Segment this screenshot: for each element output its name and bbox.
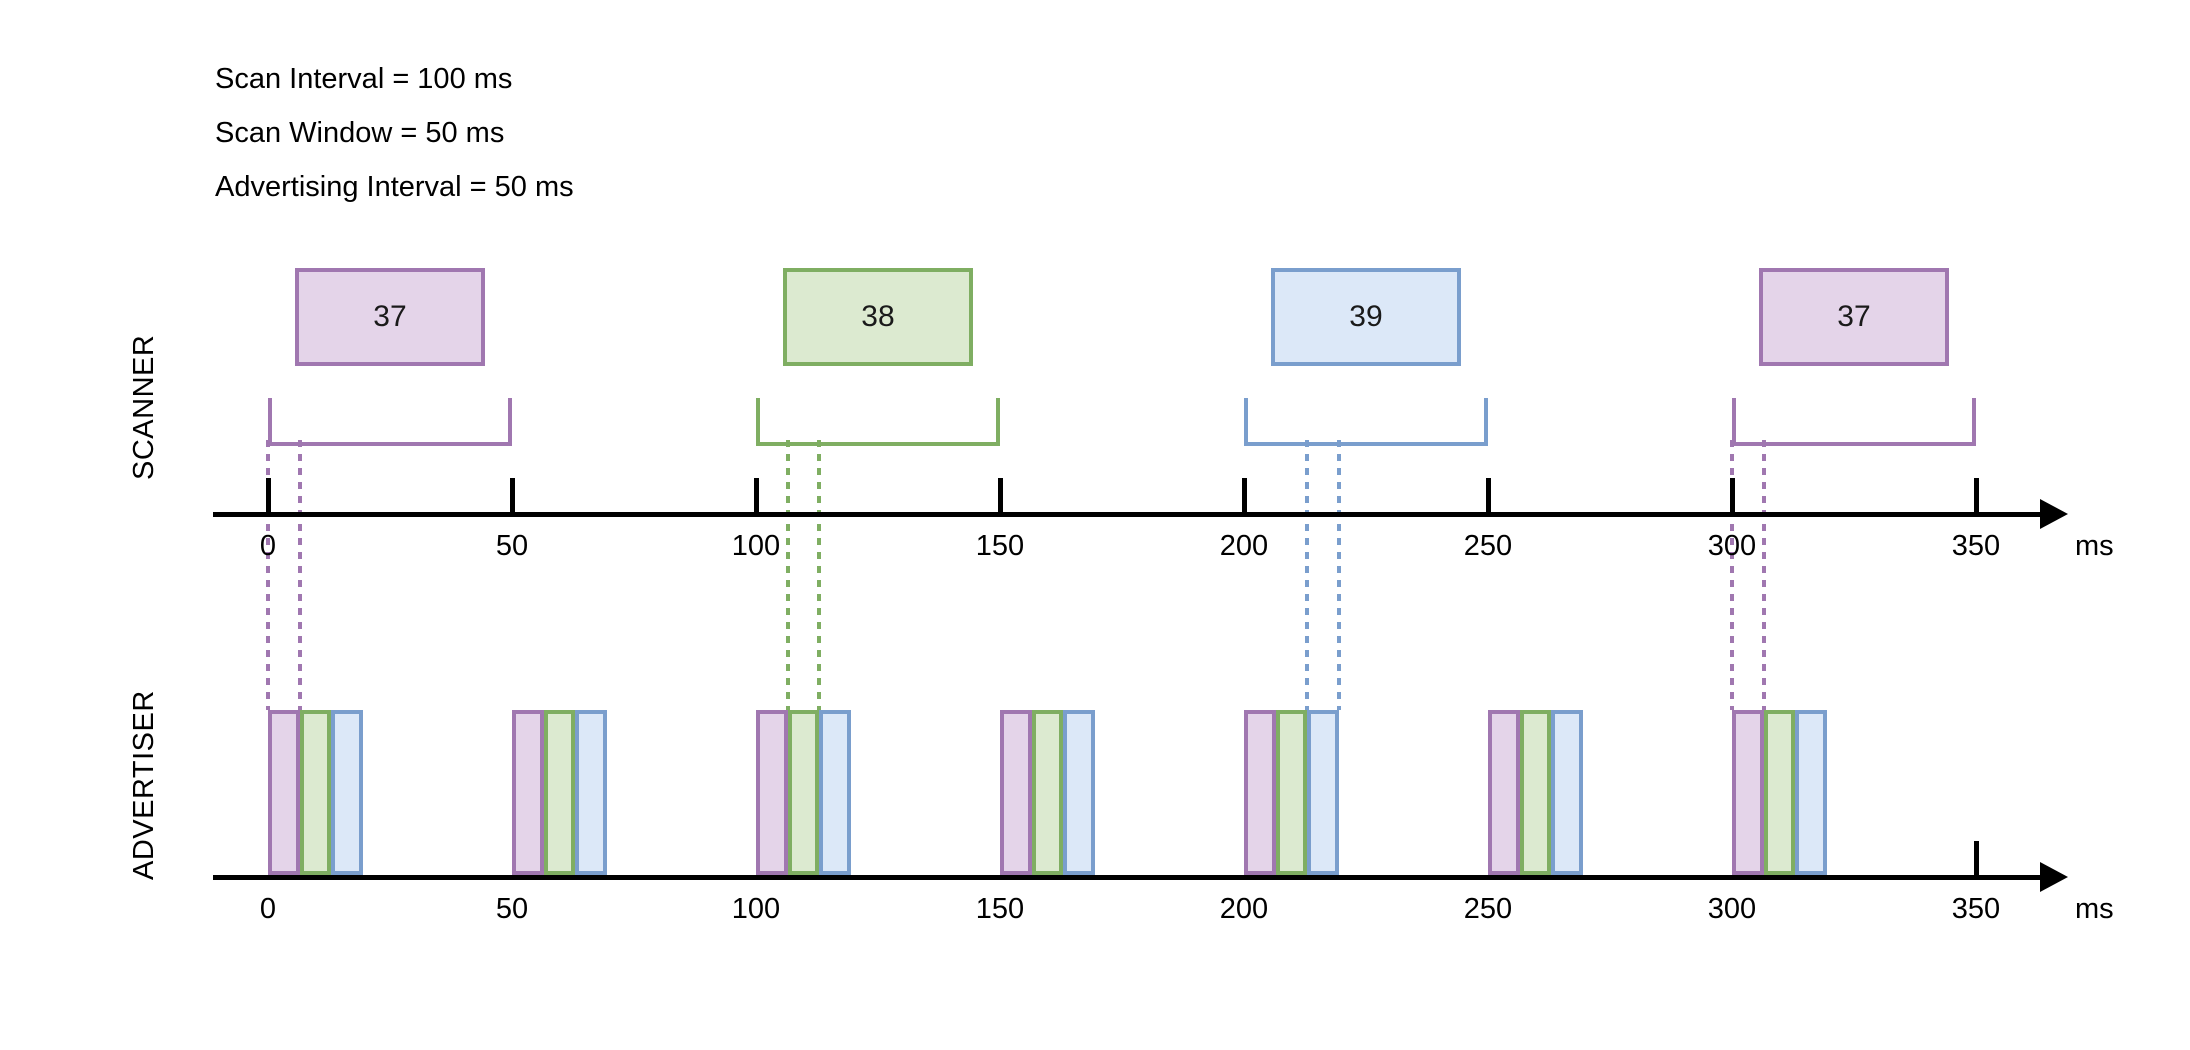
axis-tick-top-100 xyxy=(754,478,759,512)
tick-label-bottom-250: 250 xyxy=(1464,893,1512,926)
match-connector-line xyxy=(298,440,302,710)
advertiser-pulse xyxy=(1764,710,1796,875)
scanner-channel-label: 37 xyxy=(1837,300,1870,334)
advertiser-pulse xyxy=(331,710,363,875)
axis-unit-top: ms xyxy=(2075,530,2114,563)
advertiser-pulse xyxy=(756,710,788,875)
scan-window-bar xyxy=(268,442,512,446)
tick-label-bottom-350: 350 xyxy=(1952,893,2000,926)
advertiser-pulse xyxy=(788,710,820,875)
advertiser-pulse xyxy=(1520,710,1552,875)
match-connector-line xyxy=(1337,440,1341,710)
axis-line-top xyxy=(213,512,2040,517)
param-advertising-interval: Advertising Interval = 50 ms xyxy=(215,160,574,214)
advertiser-pulse xyxy=(300,710,332,875)
param-scan-interval: Scan Interval = 100 ms xyxy=(215,52,574,106)
axis-arrow-bottom xyxy=(2040,862,2068,892)
axis-line-bottom xyxy=(213,875,2040,880)
tick-label-bottom-300: 300 xyxy=(1708,893,1756,926)
tick-label-top-50: 50 xyxy=(496,530,528,563)
scan-window-cap-right xyxy=(508,398,512,446)
advertiser-pulse xyxy=(1488,710,1520,875)
tick-label-bottom-150: 150 xyxy=(976,893,1024,926)
tick-label-top-250: 250 xyxy=(1464,530,1512,563)
advertiser-pulse xyxy=(544,710,576,875)
scan-window-cap-left xyxy=(268,398,272,446)
scan-window-bracket xyxy=(1732,398,1976,446)
tick-label-bottom-50: 50 xyxy=(496,893,528,926)
advertiser-pulse xyxy=(268,710,300,875)
tick-label-top-150: 150 xyxy=(976,530,1024,563)
scan-window-bracket xyxy=(1244,398,1488,446)
axis-tick-top-300 xyxy=(1730,478,1735,512)
scan-window-cap-right xyxy=(1972,398,1976,446)
scan-window-bar xyxy=(1732,442,1976,446)
advertiser-pulse xyxy=(819,710,851,875)
param-scan-window: Scan Window = 50 ms xyxy=(215,106,574,160)
scanner-row-label: SCANNER xyxy=(128,335,161,480)
scanner-channel-box: 37 xyxy=(1759,268,1949,366)
advertiser-pulse xyxy=(1732,710,1764,875)
advertiser-pulse xyxy=(1000,710,1032,875)
scanner-channel-box: 39 xyxy=(1271,268,1461,366)
scanner-channel-box: 37 xyxy=(295,268,485,366)
timing-diagram: Scan Interval = 100 ms Scan Window = 50 … xyxy=(0,0,2190,1050)
match-connector-line xyxy=(786,440,790,710)
scanner-channel-label: 38 xyxy=(861,300,894,334)
axis-tick-top-0 xyxy=(266,478,271,512)
scan-window-bracket xyxy=(756,398,1000,446)
advertiser-pulse xyxy=(1795,710,1827,875)
axis-unit-bottom: ms xyxy=(2075,893,2114,926)
tick-label-top-200: 200 xyxy=(1220,530,1268,563)
advertiser-pulse xyxy=(512,710,544,875)
match-connector-line xyxy=(1305,440,1309,710)
advertiser-pulse xyxy=(1063,710,1095,875)
scanner-channel-label: 37 xyxy=(373,300,406,334)
scan-window-bar xyxy=(756,442,1000,446)
axis-tick-bottom-350 xyxy=(1974,841,1979,875)
advertiser-pulse xyxy=(1032,710,1064,875)
scan-window-cap-left xyxy=(1732,398,1736,446)
advertiser-row-label: ADVERTISER xyxy=(128,690,161,880)
scan-window-bar xyxy=(1244,442,1488,446)
scan-window-cap-right xyxy=(1484,398,1488,446)
advertiser-pulse xyxy=(575,710,607,875)
axis-tick-top-150 xyxy=(998,478,1003,512)
scan-window-cap-right xyxy=(996,398,1000,446)
axis-tick-top-200 xyxy=(1242,478,1247,512)
axis-arrow-top xyxy=(2040,499,2068,529)
scan-window-cap-left xyxy=(756,398,760,446)
advertiser-pulse xyxy=(1307,710,1339,875)
tick-label-bottom-0: 0 xyxy=(260,893,276,926)
advertiser-pulse xyxy=(1276,710,1308,875)
tick-label-bottom-100: 100 xyxy=(732,893,780,926)
axis-tick-top-50 xyxy=(510,478,515,512)
scan-window-cap-left xyxy=(1244,398,1248,446)
tick-label-top-100: 100 xyxy=(732,530,780,563)
scan-window-bracket xyxy=(268,398,512,446)
tick-label-bottom-200: 200 xyxy=(1220,893,1268,926)
parameter-list: Scan Interval = 100 ms Scan Window = 50 … xyxy=(215,52,574,214)
advertiser-pulse xyxy=(1551,710,1583,875)
tick-label-top-350: 350 xyxy=(1952,530,2000,563)
advertiser-pulse xyxy=(1244,710,1276,875)
scanner-channel-box: 38 xyxy=(783,268,973,366)
tick-label-top-0: 0 xyxy=(260,530,276,563)
match-connector-line xyxy=(817,440,821,710)
match-connector-line xyxy=(1762,440,1766,710)
axis-tick-top-250 xyxy=(1486,478,1491,512)
axis-tick-top-350 xyxy=(1974,478,1979,512)
scanner-channel-label: 39 xyxy=(1349,300,1382,334)
tick-label-top-300: 300 xyxy=(1708,530,1756,563)
